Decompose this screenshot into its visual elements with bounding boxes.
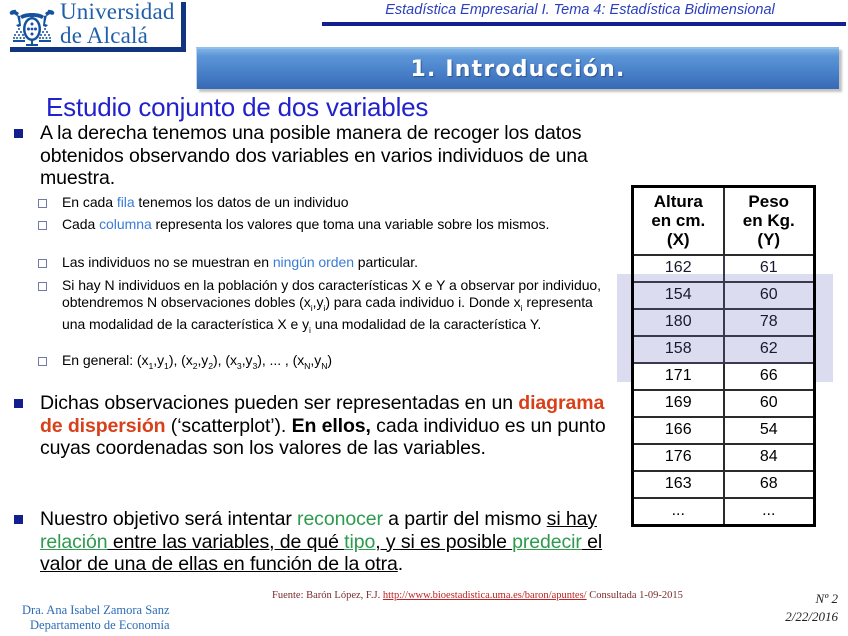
- table-row: 15460: [633, 282, 815, 309]
- sub5-a: En general: (x: [62, 352, 148, 368]
- header-peso-line3: (Y): [757, 230, 780, 249]
- sub3-pre: Las individuos no se muestran en: [62, 254, 273, 270]
- table-row: 16960: [633, 390, 815, 417]
- header-peso-line2: en Kg.: [743, 211, 795, 230]
- b3-a: Nuestro objetivo será intentar: [40, 508, 297, 530]
- table-row: 17166: [633, 363, 815, 390]
- header-altura-line2: en cm.: [651, 211, 705, 230]
- sub5-c: ), (x: [169, 352, 193, 368]
- header-divider-rule: [322, 22, 846, 26]
- sub5-g: ), ... , (x: [257, 352, 304, 368]
- bullet-item-main-2: Dichas observaciones pueden ser represen…: [14, 392, 614, 460]
- sub3-highlight: ningún orden: [273, 254, 354, 270]
- table-cell-altura: 158: [633, 336, 724, 363]
- bullet-text-sub-4: Si hay N individuos en la población y do…: [62, 277, 618, 338]
- table-cell-peso: 61: [724, 255, 815, 282]
- bullet-text-sub-5: En general: (x1,y1), (x2,y2), (x3,y3), .…: [62, 352, 332, 374]
- table-row: 15862: [633, 336, 815, 363]
- table-row: ......: [633, 498, 815, 526]
- sub1-highlight: fila: [117, 194, 135, 210]
- university-name-line1: Universidad: [60, 0, 175, 24]
- sub3-post: particular.: [354, 254, 418, 270]
- author-department: Departamento de Economía: [22, 618, 170, 633]
- table-header-altura: Altura en cm. (X): [633, 187, 724, 256]
- sub4-e: una modalidad de la característica Y.: [311, 316, 541, 332]
- sub2-pre: Cada: [62, 216, 99, 232]
- section-title-banner: 1. Introducción.: [196, 47, 839, 89]
- author-info: Dra. Ana Isabel Zamora Sanz Departamento…: [22, 603, 170, 633]
- b3-emphasis-green-3: tipo: [344, 531, 375, 553]
- table-cell-peso: 62: [724, 336, 815, 363]
- sub5-d: ,y: [197, 352, 208, 368]
- bullet-text-main-1: A la derecha tenemos una posible manera …: [40, 122, 614, 190]
- course-header-title: Estadística Empresarial I. Tema 4: Estad…: [320, 2, 840, 18]
- table-cell-altura: ...: [633, 498, 724, 526]
- bullet-text-main-2: Dichas observaciones pueden ser represen…: [40, 392, 614, 460]
- table-row: 17684: [633, 444, 815, 471]
- logo-right-rule: [181, 2, 186, 47]
- table-cell-peso: 78: [724, 309, 815, 336]
- hollow-square-bullet-icon: [38, 221, 47, 230]
- height-weight-data-table: Altura en cm. (X) Peso en Kg. (Y) 162611…: [631, 185, 816, 527]
- b2-mid: (‘scatterplot’).: [165, 415, 291, 437]
- university-crest-icon: [6, 4, 58, 48]
- bullet-item-main-3: Nuestro objetivo será intentar reconocer…: [14, 508, 614, 576]
- b3-end: .: [398, 553, 403, 575]
- b3-emphasis-green-2: relación: [40, 531, 108, 553]
- b3-u1: si hay: [547, 508, 597, 530]
- bullet-item-sub-4: Si hay N individuos en la población y do…: [38, 277, 618, 338]
- b3-u3: , y si es posible: [375, 531, 512, 553]
- sub2-post: representa los valores que toma una vari…: [152, 216, 550, 232]
- table-row: 16654: [633, 417, 815, 444]
- slide-subtitle: Estudio conjunto de dos variables: [46, 92, 428, 123]
- b2-emphasis-bold: En ellos,: [292, 415, 371, 437]
- table-row: 16261: [633, 255, 815, 282]
- university-logo-block: Universidad de Alcalá: [4, 2, 186, 50]
- b3-emphasis-green-1: reconocer: [297, 508, 383, 530]
- table-cell-altura: 166: [633, 417, 724, 444]
- bullet-item-main-1: A la derecha tenemos una posible manera …: [14, 122, 614, 190]
- bullet-text-sub-2: Cada columna representa los valores que …: [62, 216, 549, 233]
- bullet-item-sub-1: En cada fila tenemos los datos de un ind…: [38, 194, 618, 211]
- hollow-square-bullet-icon: [38, 259, 47, 268]
- table-cell-altura: 163: [633, 471, 724, 498]
- hollow-square-bullet-icon: [38, 199, 47, 208]
- source-citation: Fuente: Barón López, F.J. http://www.bio…: [272, 590, 683, 601]
- table-cell-altura: 154: [633, 282, 724, 309]
- source-post: Consultada 1-09-2015: [587, 590, 683, 601]
- table-cell-altura: 169: [633, 390, 724, 417]
- table-cell-altura: 176: [633, 444, 724, 471]
- university-name: Universidad de Alcalá: [60, 0, 175, 48]
- bullet-text-main-3: Nuestro objetivo será intentar reconocer…: [40, 508, 614, 576]
- square-bullet-icon: [14, 399, 23, 408]
- table-cell-peso: 54: [724, 417, 815, 444]
- b3-emphasis-green-4: predecir: [512, 531, 582, 553]
- university-name-line2: de Alcalá: [60, 24, 175, 48]
- slide-date: 2/22/2016: [785, 609, 838, 625]
- table-cell-peso: 60: [724, 282, 815, 309]
- sub4-b: ,y: [313, 294, 324, 310]
- bullet-item-sub-3: Las individuos no se muestran en ningún …: [38, 254, 618, 271]
- header-altura-line1: Altura: [654, 192, 703, 211]
- hollow-square-bullet-icon: [38, 282, 47, 291]
- bullet-text-sub-3: Las individuos no se muestran en ningún …: [62, 254, 418, 271]
- source-pre: Fuente: Barón López, F.J.: [272, 590, 383, 601]
- sub5-f: ,y: [242, 352, 253, 368]
- sub1-post: tenemos los datos de un individuo: [135, 194, 349, 210]
- sub5-i: ): [327, 352, 332, 368]
- table-header-row: Altura en cm. (X) Peso en Kg. (Y): [633, 187, 815, 256]
- table-cell-peso: 68: [724, 471, 815, 498]
- b3-u2: entre las variables, de qué: [108, 531, 345, 553]
- sub5-b: ,y: [153, 352, 164, 368]
- sub5-h: ,y: [310, 352, 321, 368]
- table-cell-altura: 180: [633, 309, 724, 336]
- table-row: 16368: [633, 471, 815, 498]
- header-peso-line1: Peso: [748, 192, 789, 211]
- b2-pre: Dichas observaciones pueden ser represen…: [40, 392, 518, 414]
- table-cell-peso: 84: [724, 444, 815, 471]
- sub5-e: ), (x: [213, 352, 237, 368]
- sub2-highlight: columna: [99, 216, 152, 232]
- square-bullet-icon: [14, 515, 23, 524]
- author-name: Dra. Ana Isabel Zamora Sanz: [22, 603, 170, 617]
- sub1-pre: En cada: [62, 194, 117, 210]
- b3-b: a partir del mismo: [383, 508, 547, 530]
- table-cell-altura: 171: [633, 363, 724, 390]
- bullet-item-sub-5: En general: (x1,y1), (x2,y2), (x3,y3), .…: [38, 352, 618, 374]
- hollow-square-bullet-icon: [38, 357, 47, 366]
- table-cell-peso: ...: [724, 498, 815, 526]
- square-bullet-icon: [14, 129, 23, 138]
- table-cell-altura: 162: [633, 255, 724, 282]
- header-altura-line3: (X): [667, 230, 690, 249]
- sub4-c: ) para cada individuo i. Donde x: [325, 294, 520, 310]
- bullet-text-sub-1: En cada fila tenemos los datos de un ind…: [62, 194, 348, 211]
- table-row: 18078: [633, 309, 815, 336]
- table-cell-peso: 66: [724, 363, 815, 390]
- table-cell-peso: 60: [724, 390, 815, 417]
- section-title-text: 1. Introducción.: [410, 57, 625, 82]
- table-header-peso: Peso en Kg. (Y): [724, 187, 815, 256]
- logo-bottom-rule: [10, 47, 186, 52]
- source-link[interactable]: http://www.bioestadistica.uma.es/baron/a…: [383, 590, 587, 601]
- slide-number: Nº 2: [816, 591, 838, 607]
- bullet-item-sub-2: Cada columna representa los valores que …: [38, 216, 618, 233]
